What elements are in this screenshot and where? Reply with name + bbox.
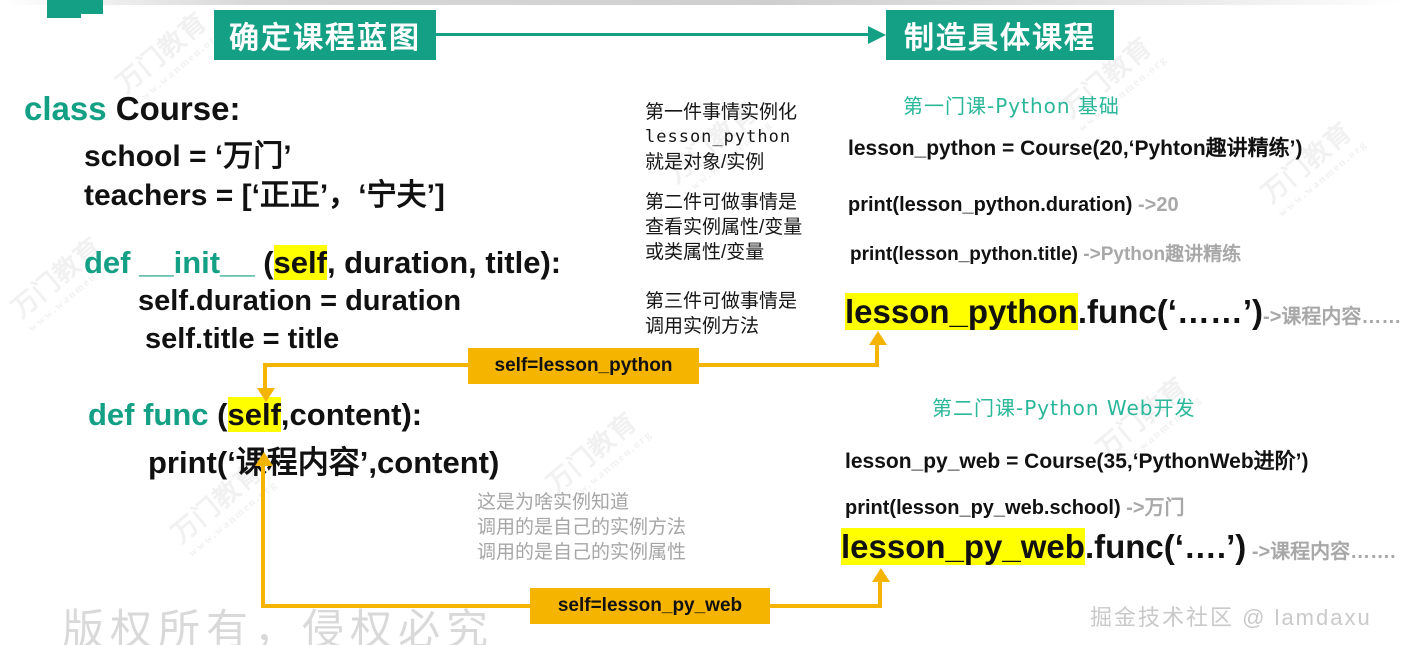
func-params: ,content): [281,397,422,432]
arrow-head-up-icon [255,452,273,466]
lesson-py-web-func-call: lesson_py_web.func(‘….’) ->课程内容……. [841,528,1396,566]
arrow-head-up-icon [872,568,890,582]
top-divider [0,0,1402,5]
note-second-thing: 第二件可做事情是 查看实例属性/变量 或类属性/变量 [645,190,802,265]
highlighted-lesson-py-web: lesson_py_web [841,528,1085,565]
keyword-class: class [24,90,107,127]
corner-tab-decoration [47,0,81,18]
code-line-def-init: def __init__ (self, duration, title): [84,245,561,281]
header-arrow-line [436,33,876,36]
lesson-python-print-title: print(lesson_python.title) ->Python趣讲精练 [850,239,1241,266]
code-line-school: school = ‘万门’ [84,131,292,175]
gray-note-line-2: 调用的是自己的实例方法 [477,515,686,540]
gray-note-line-3: 调用的是自己的实例属性 [477,540,686,565]
keyword-def: def [84,245,131,280]
highlighted-self-func: self [228,397,281,432]
print-school-result: ->万门 [1121,497,1185,519]
note-first-thing-mono: lesson_python [645,125,797,150]
lesson-python-instantiation: lesson_python = Course(20,‘Pyhton趣讲精练’) [848,132,1302,162]
background-watermark: 万门教育 www.wanmen.org [1252,110,1370,220]
code-line-self-duration: self.duration = duration [138,285,461,318]
connector-line-callout2-right [770,604,882,608]
note-second-line-3: 或类属性/变量 [645,240,802,265]
connector-line-callout1-left-vertical [263,363,267,390]
callout-self-equals-lesson-py-web: self=lesson_py_web [530,588,770,624]
note-third-line-1: 第三件可做事情是 [645,289,797,314]
arrow-head-up-icon [869,331,887,345]
highlighted-self-init: self [274,245,327,280]
header-box-instantiate: 制造具体课程 [886,10,1114,60]
connector-line-callout2-right-vertical [878,578,882,608]
connector-line-callout1-left [263,363,470,367]
section-title-lesson-python: 第一门课-Python 基础 [903,90,1120,119]
method-name-init: __init__ [131,245,264,280]
note-first-thing: 第一件事情实例化 lesson_python 就是对象/实例 [645,100,797,175]
paren-open: ( [209,397,228,432]
lesson-py-web-func-code: .func(‘….’) [1085,528,1246,565]
note-first-thing-title: 第一件事情实例化 [645,100,797,125]
class-name: Course: [107,90,241,127]
code-line-self-title: self.title = title [145,323,339,356]
keyword-def-func: def func [88,397,209,432]
watermark-sub-text: www.wanmen.org [186,478,280,559]
init-params: , duration, title): [327,245,561,280]
note-second-line-1: 第二件可做事情是 [645,190,802,215]
lesson-python-func-code: .func(‘……’) [1078,293,1263,330]
lesson-python-func-call: lesson_python.func(‘……’)->课程内容…… [845,293,1401,331]
connector-line-callout2-left-vertical [261,463,265,608]
print-duration-code: print(lesson_python.duration) [848,194,1132,216]
paren-open: ( [263,245,273,280]
lesson-py-web-print-school: print(lesson_py_web.school) ->万门 [845,491,1185,520]
print-school-code: print(lesson_py_web.school) [845,497,1121,519]
lesson-py-web-func-result: ->课程内容……. [1246,541,1395,563]
note-third-thing: 第三件可做事情是 调用实例方法 [645,289,797,339]
lesson-python-print-duration: print(lesson_python.duration) ->20 [848,194,1179,217]
watermark-main-text: 万门教育 [111,7,212,99]
note-first-thing-tail: 就是对象/实例 [645,150,797,175]
slide-canvas: 万门教育 www.wanmen.org 万门教育 www.wanmen.org … [0,0,1402,645]
code-line-print-content: print(‘课程内容’,content) [148,437,499,482]
print-title-result: ->Python趣讲精练 [1078,244,1241,265]
highlighted-lesson-python: lesson_python [845,293,1078,330]
copyright-watermark: 版权所有，侵权必究 [62,596,494,645]
note-third-line-2: 调用实例方法 [645,314,797,339]
arrow-head-down-icon [257,388,275,402]
watermark-main-text: 万门教育 [1256,117,1357,209]
print-title-code: print(lesson_python.title) [850,244,1078,265]
code-line-teachers: teachers = [‘正正’，‘宁夫’] [84,170,445,214]
note-gray-explanation: 这是为啥实例知道 调用的是自己的实例方法 调用的是自己的实例属性 [477,490,686,565]
note-second-line-2: 查看实例属性/变量 [645,215,802,240]
header-box-blueprint: 确定课程蓝图 [214,10,436,60]
code-line-def-func: def func (self,content): [88,397,422,433]
author-credit: 掘金技术社区 @ lamdaxu [1090,600,1372,632]
watermark-main-text: 万门教育 [541,407,642,499]
callout-self-equals-lesson-python: self=lesson_python [468,348,699,384]
section-title-lesson-py-web: 第二门课-Python Web开发 [932,392,1196,421]
header-arrow-head-icon [868,26,886,44]
gray-note-line-1: 这是为啥实例知道 [477,490,686,515]
lesson-py-web-instantiation: lesson_py_web = Course(35,‘PythonWeb进阶’) [845,445,1308,475]
lesson-python-func-result: ->课程内容…… [1263,306,1401,328]
connector-line-callout1-right [699,363,879,367]
code-line-class-course: class Course: [24,90,240,128]
print-duration-result: ->20 [1132,194,1178,216]
